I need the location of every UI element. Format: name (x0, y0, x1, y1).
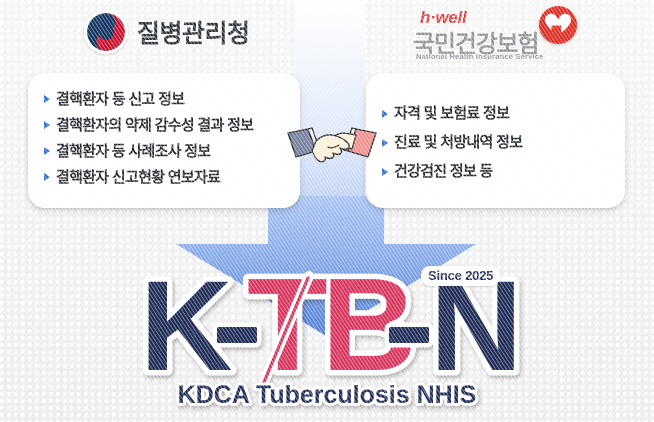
kdca-taegeuk-icon (84, 10, 128, 54)
nhis-logo-block: h·well 국민건강보험 National Health Insurance … (410, 6, 585, 68)
list-item-label: 결핵환자의 약제 감수성 결과 정보 (56, 118, 253, 133)
bullet-triangle-icon (44, 173, 50, 181)
ktbn-wordmark: .nv{fill:#1d2a55;} .cr{fill:#d8315b;} .o… (0, 248, 654, 422)
list-item: 진료 및 처방내역 정보 (382, 128, 615, 157)
bullet-triangle-icon (382, 110, 388, 118)
bullet-triangle-icon (44, 95, 50, 103)
list-item: 결핵환자의 약제 감수성 결과 정보 (44, 112, 290, 138)
list-item: 건강검진 정보 등 (382, 157, 615, 186)
poster-canvas: 질병관리청 h·well 국민건강보험 National Health Insu… (0, 0, 654, 422)
list-item: 결핵환자 신고현황 연보자료 (44, 164, 290, 190)
nhis-info-card: 자격 및 보험료 정보 진료 및 처방내역 정보 건강검진 정보 등 (366, 73, 625, 208)
bullet-triangle-icon (44, 121, 50, 129)
list-item-label: 결핵환자 등 신고 정보 (56, 92, 184, 107)
nhis-info-list: 자격 및 보험료 정보 진료 및 처방내역 정보 건강검진 정보 등 (382, 99, 615, 186)
kdca-info-list: 결핵환자 등 신고 정보 결핵환자의 약제 감수성 결과 정보 결핵환자 등 사… (44, 86, 290, 190)
since-badge: Since 2025 (421, 266, 500, 286)
nhis-name-en: National Health Insurance Service (416, 52, 543, 61)
list-item: 결핵환자 등 사례조사 정보 (44, 138, 290, 164)
svg-text:KDCA Tuberculosis NHIS: KDCA Tuberculosis NHIS (178, 381, 477, 409)
handshake-icon (286, 111, 378, 177)
list-item-label: 건강검진 정보 등 (394, 164, 493, 179)
list-item-label: 결핵환자 신고현황 연보자료 (56, 170, 220, 185)
list-item: 결핵환자 등 신고 정보 (44, 86, 290, 112)
kdca-info-card: 결핵환자 등 신고 정보 결핵환자의 약제 감수성 결과 정보 결핵환자 등 사… (28, 73, 300, 208)
list-item-label: 진료 및 처방내역 정보 (394, 135, 522, 150)
list-item-label: 자격 및 보험료 정보 (394, 106, 509, 121)
list-item-label: 결핵환자 등 사례조사 정보 (56, 144, 211, 159)
list-item: 자격 및 보험료 정보 (382, 99, 615, 128)
nhis-heart-icon (539, 6, 577, 44)
kdca-name-label: 질병관리청 (137, 14, 250, 50)
bullet-triangle-icon (44, 147, 50, 155)
bullet-triangle-icon (382, 168, 388, 176)
bullet-triangle-icon (382, 139, 388, 147)
kdca-logo-block: 질병관리청 (84, 10, 250, 54)
